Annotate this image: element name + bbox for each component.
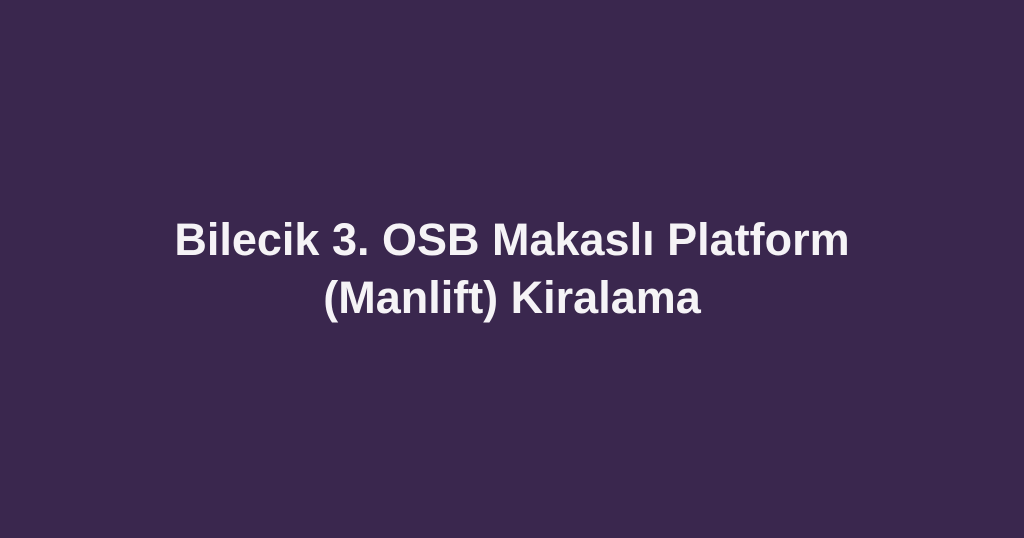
title-block: Bilecik 3. OSB Makaslı Platform (Manlift… <box>132 211 892 327</box>
page-title: Bilecik 3. OSB Makaslı Platform (Manlift… <box>132 211 892 327</box>
share-preview-card: Bilecik 3. OSB Makaslı Platform (Manlift… <box>0 0 1024 538</box>
